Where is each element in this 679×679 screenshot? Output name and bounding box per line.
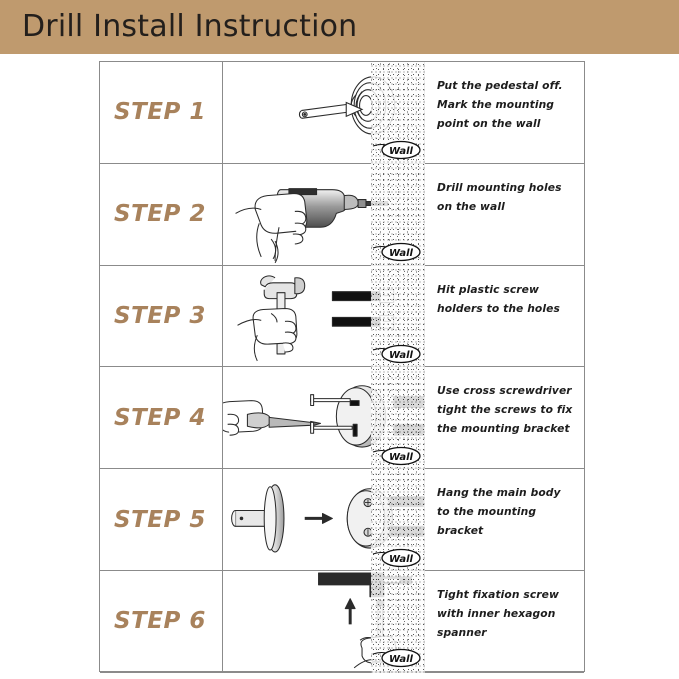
table-row: STEP 2 <box>100 164 584 266</box>
instruction-cell: Hang the main body to the mounting brack… <box>425 469 584 570</box>
step-label-cell: STEP 3 <box>100 266 223 367</box>
step-label-cell: STEP 6 <box>100 571 223 672</box>
table-row: STEP 5 <box>100 469 584 571</box>
instruction-cell: Hit plastic screw holders to the holes <box>425 266 584 367</box>
step-label-cell: STEP 4 <box>100 367 223 468</box>
table-row: STEP 6 <box>100 571 584 673</box>
step-label: STEP 3 <box>114 303 206 329</box>
instruction-text: Use cross screwdriver tight the screws t… <box>437 381 574 438</box>
instruction-text: Hit plastic screw holders to the holes <box>437 280 574 318</box>
pedestal-removal-illustration <box>223 62 424 163</box>
illustration-cell <box>223 571 425 672</box>
instruction-text: Drill mounting holes on the wall <box>437 178 574 216</box>
instruction-cell: Tight fixation screw with inner hexagon … <box>425 571 584 672</box>
illustration-cell <box>223 164 425 265</box>
instruction-text: Put the pedestal off. Mark the mounting … <box>437 76 574 133</box>
illustration-cell <box>223 469 425 570</box>
step-label: STEP 2 <box>114 201 206 227</box>
instruction-text: Hang the main body to the mounting brack… <box>437 483 574 540</box>
step-label: STEP 4 <box>114 405 206 431</box>
table-row: STEP 3 <box>100 266 584 368</box>
step-label-cell: STEP 2 <box>100 164 223 265</box>
step-label-cell: STEP 1 <box>100 62 223 163</box>
header-banner: Drill Install Instruction <box>0 0 679 54</box>
instruction-table: STEP 1 <box>99 61 585 672</box>
step-label: STEP 6 <box>114 608 206 634</box>
instruction-text: Tight fixation screw with inner hexagon … <box>437 585 574 642</box>
illustration-cell <box>223 367 425 468</box>
step-label-cell: STEP 5 <box>100 469 223 570</box>
table-row: STEP 1 <box>100 62 584 164</box>
hex-spanner-illustration <box>223 571 424 672</box>
instruction-cell: Use cross screwdriver tight the screws t… <box>425 367 584 468</box>
hand-with-drill-illustration <box>223 164 424 265</box>
illustration-cell <box>223 62 425 163</box>
instruction-cell: Drill mounting holes on the wall <box>425 164 584 265</box>
table-row: STEP 4 <box>100 367 584 469</box>
hand-with-screwdriver-illustration <box>223 367 424 468</box>
hand-with-hammer-illustration <box>223 266 424 367</box>
instruction-cell: Put the pedestal off. Mark the mounting … <box>425 62 584 163</box>
page-title: Drill Install Instruction <box>22 9 357 44</box>
step-label: STEP 1 <box>114 99 206 125</box>
illustration-cell <box>223 266 425 367</box>
hook-body-to-bracket-illustration <box>223 469 424 570</box>
step-label: STEP 5 <box>114 507 206 533</box>
